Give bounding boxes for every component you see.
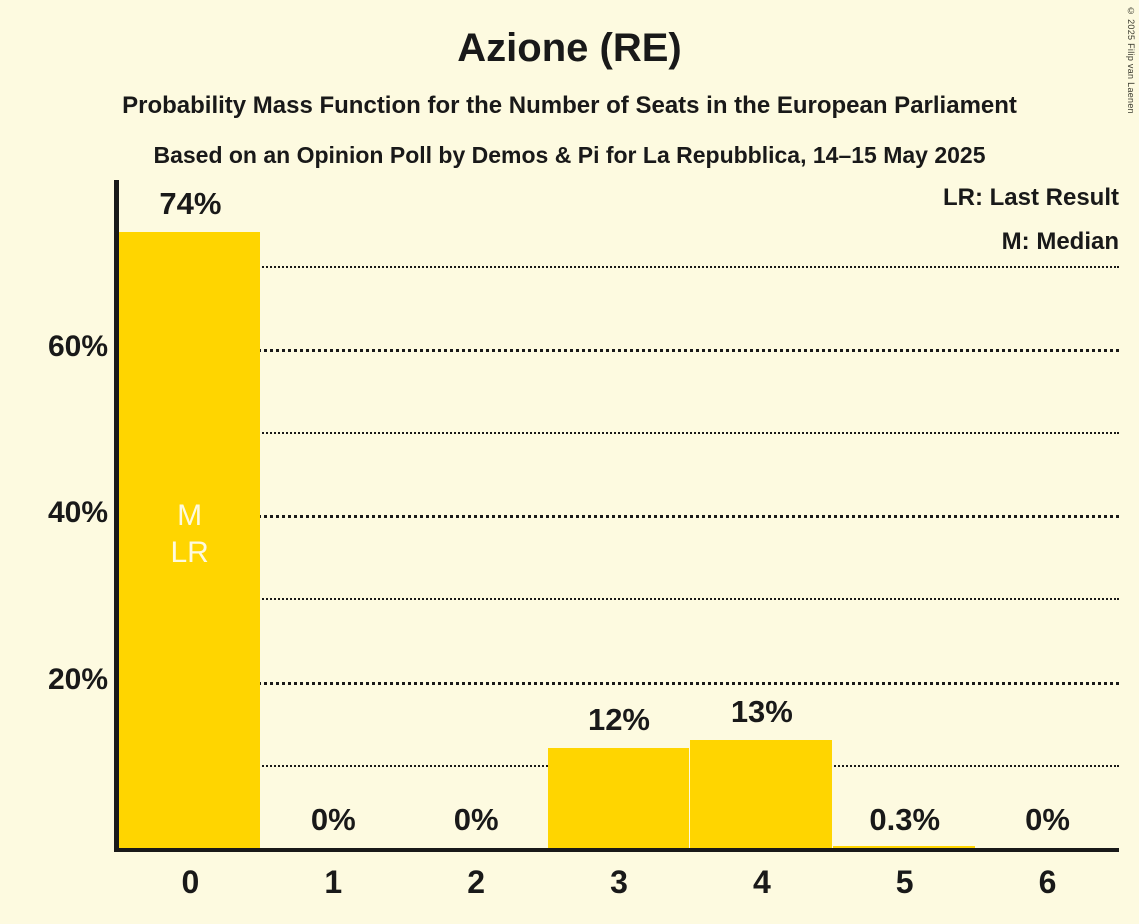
bar-value-label-3: 12% xyxy=(548,704,691,735)
x-axis-tick-label-5: 5 xyxy=(833,866,976,898)
chart-subtitle-primary: Probability Mass Function for the Number… xyxy=(0,94,1139,118)
title-block: Azione (RE) Probability Mass Function fo… xyxy=(0,0,1139,167)
gridline-minor xyxy=(119,266,1119,268)
y-axis-tick-label: 40% xyxy=(0,498,108,528)
bar-value-label-4: 13% xyxy=(690,696,833,727)
chart-subtitle-secondary: Based on an Opinion Poll by Demos & Pi f… xyxy=(0,144,1139,167)
y-axis-tick-label: 20% xyxy=(0,665,108,695)
gridline-major xyxy=(119,682,1119,685)
plot-area: MLR74%0%0%12%13%0.3%0% xyxy=(119,180,1119,848)
bar-seat-5[interactable] xyxy=(833,846,974,848)
bar-value-label-5: 0.3% xyxy=(833,804,976,835)
bar-value-label-0: 74% xyxy=(119,188,262,219)
bar-value-label-6: 0% xyxy=(976,804,1119,835)
bar-value-label-2: 0% xyxy=(405,804,548,835)
copyright-notice: © 2025 Filip van Laenen xyxy=(1126,6,1136,114)
median-marker: M xyxy=(119,498,260,535)
gridline-major xyxy=(119,515,1119,518)
x-axis-tick-label-4: 4 xyxy=(690,866,833,898)
gridline-minor xyxy=(119,598,1119,600)
gridline-major xyxy=(119,349,1119,352)
last-result-marker: LR xyxy=(119,535,260,572)
x-axis-line xyxy=(114,848,1119,852)
page-title: Azione (RE) xyxy=(0,28,1139,68)
y-axis-labels: 20%40%60% xyxy=(0,0,108,924)
bar-seat-0[interactable]: MLR xyxy=(119,232,260,848)
x-axis-labels: 0123456 xyxy=(119,866,1119,916)
y-axis-tick-label: 60% xyxy=(0,332,108,362)
x-axis-tick-label-2: 2 xyxy=(405,866,548,898)
x-axis-tick-label-3: 3 xyxy=(548,866,691,898)
x-axis-tick-label-1: 1 xyxy=(262,866,405,898)
x-axis-tick-label-6: 6 xyxy=(976,866,1119,898)
bar-annotation-group: MLR xyxy=(119,498,260,571)
bar-seat-4[interactable] xyxy=(690,740,831,848)
bar-seat-3[interactable] xyxy=(548,748,689,848)
x-axis-tick-label-0: 0 xyxy=(119,866,262,898)
gridline-minor xyxy=(119,432,1119,434)
bar-value-label-1: 0% xyxy=(262,804,405,835)
